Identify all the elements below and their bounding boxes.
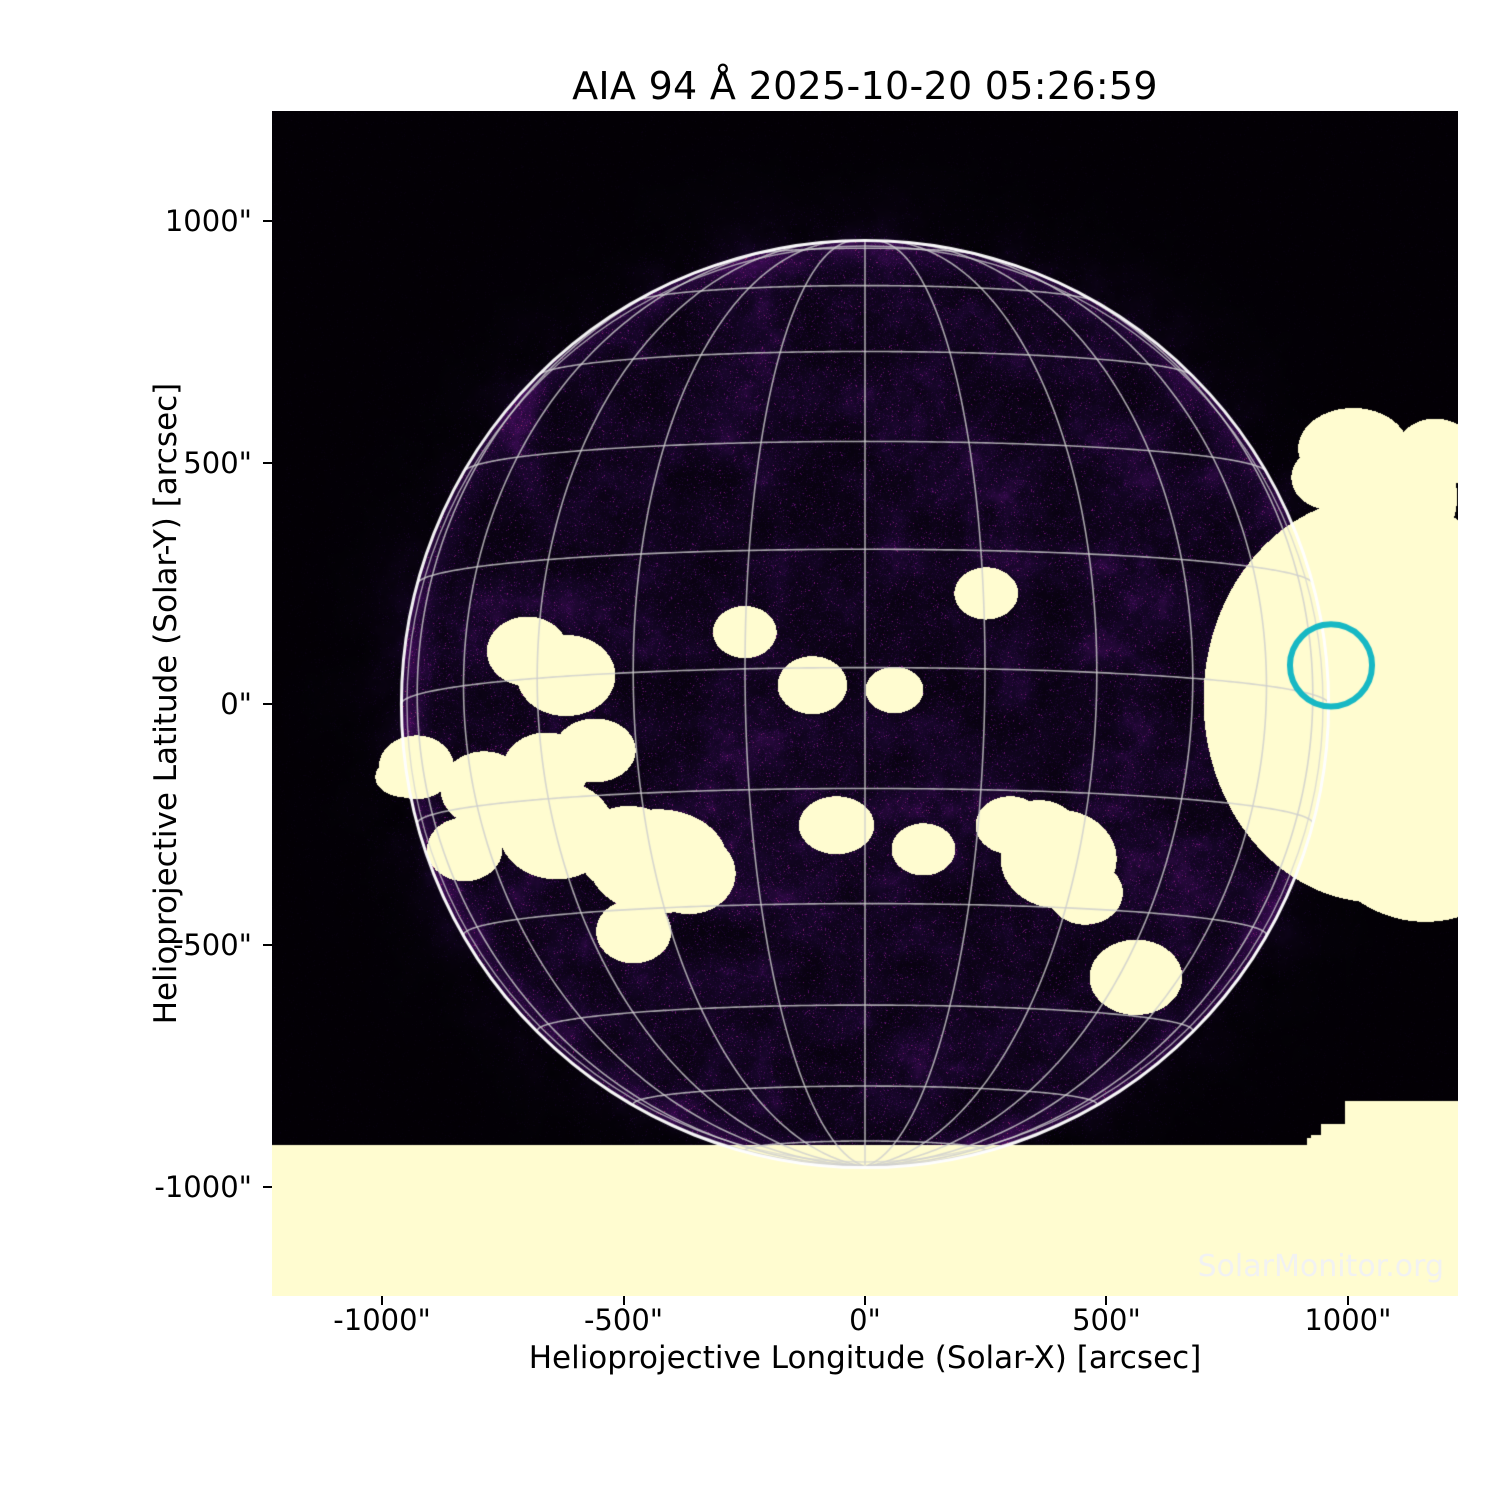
x-tick-label: -1000" [333,1303,431,1337]
y-axis-label: Helioprojective Latitude (Solar-Y) [arcs… [148,111,208,1296]
x-tick-label: -500" [584,1303,663,1337]
x-tick-mark [1347,1296,1349,1305]
x-tick-label: 0" [849,1303,881,1337]
solar-image-figure: AIA 94 Å 2025-10-20 05:26:59 SolarMonito… [0,0,1500,1500]
x-axis-label: Helioprojective Longitude (Solar-X) [arc… [272,1340,1458,1376]
image-plot-area[interactable]: SolarMonitor.org [272,111,1458,1296]
x-tick-mark [1105,1296,1107,1305]
x-tick-label: 1000" [1304,1303,1391,1337]
y-tick-label: 500" [183,446,252,480]
x-tick-mark [381,1296,383,1305]
x-tick-label: 500" [1072,1303,1141,1337]
y-tick-mark [263,462,272,464]
y-tick-label: 0" [220,687,252,721]
x-tick-mark [864,1296,866,1305]
page-title: AIA 94 Å 2025-10-20 05:26:59 [272,64,1458,108]
y-tick-mark [263,220,272,222]
solar-disk-image[interactable] [272,111,1458,1296]
y-tick-label: -1000" [154,1170,252,1204]
y-tick-mark [263,1186,272,1188]
watermark-label: SolarMonitor.org [1198,1249,1444,1284]
y-tick-label: 1000" [165,204,252,238]
y-tick-label: -500" [173,928,252,962]
y-tick-mark [263,703,272,705]
y-tick-mark [263,944,272,946]
x-tick-mark [623,1296,625,1305]
